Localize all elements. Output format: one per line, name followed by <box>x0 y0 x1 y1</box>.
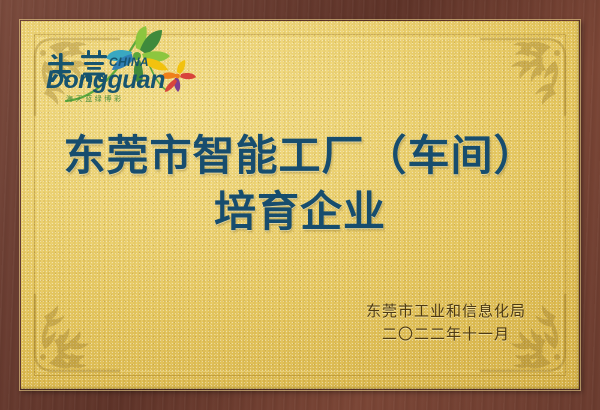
issuer-date: 二〇二二年十一月 <box>366 323 526 346</box>
logo-slogan-text: 海天蓝绿博彩 <box>66 94 124 103</box>
award-plaque: CHINA Dongguan 海天蓝绿博彩 东莞市智能工厂（车间） 培育企业 东… <box>0 0 600 410</box>
plaque-title-line-2: 培育企业 <box>0 184 600 240</box>
issuer-organization: 东莞市工业和信息化局 <box>366 300 526 323</box>
plaque-title-line-1: 东莞市智能工厂（车间） <box>0 128 600 184</box>
logo-dongguan-text: Dongguan <box>46 66 165 94</box>
plaque-title: 东莞市智能工厂（车间） 培育企业 <box>0 128 600 240</box>
issuer-block: 东莞市工业和信息化局 二〇二二年十一月 <box>366 300 526 347</box>
dongguan-city-logo: CHINA Dongguan 海天蓝绿博彩 <box>36 22 206 114</box>
plaque-content: CHINA Dongguan 海天蓝绿博彩 东莞市智能工厂（车间） 培育企业 东… <box>0 0 600 410</box>
